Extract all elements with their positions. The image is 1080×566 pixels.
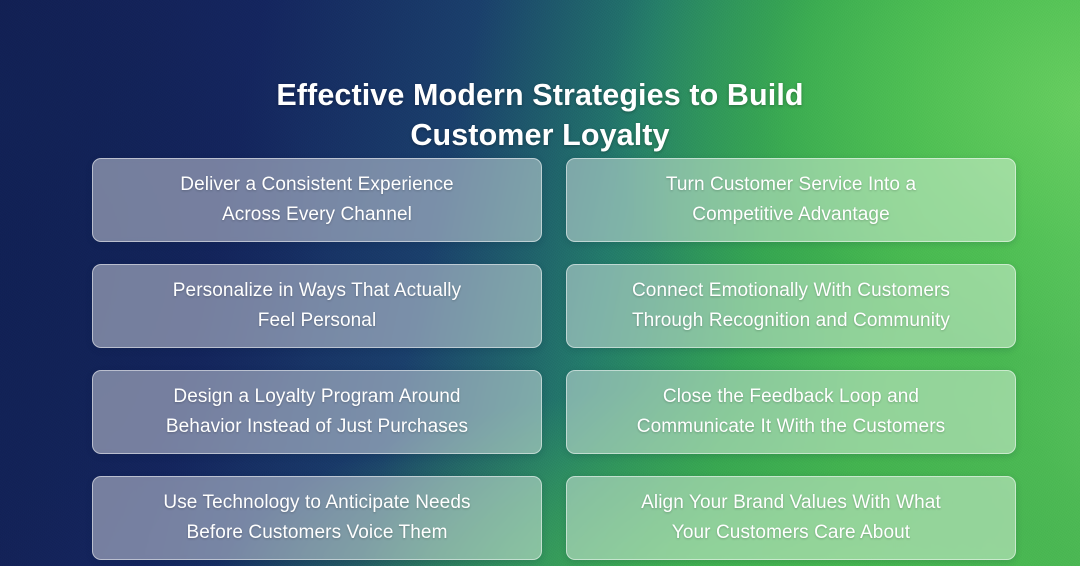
infographic-slide: Effective Modern Strategies to Build Cus…	[0, 0, 1080, 566]
strategy-card-brand-values[interactable]: Align Your Brand Values With What Your C…	[566, 476, 1016, 560]
strategy-card-label: Use Technology to Anticipate Needs Befor…	[163, 488, 470, 548]
slide-content: Effective Modern Strategies to Build Cus…	[0, 0, 1080, 566]
strategy-card-grid: Deliver a Consistent Experience Across E…	[92, 158, 1016, 560]
strategy-card-technology-anticipation[interactable]: Use Technology to Anticipate Needs Befor…	[92, 476, 542, 560]
strategy-card-personalization[interactable]: Personalize in Ways That Actually Feel P…	[92, 264, 542, 348]
strategy-card-customer-service[interactable]: Turn Customer Service Into a Competitive…	[566, 158, 1016, 242]
strategy-card-label: Personalize in Ways That Actually Feel P…	[173, 276, 461, 336]
strategy-card-loyalty-program[interactable]: Design a Loyalty Program Around Behavior…	[92, 370, 542, 454]
page-title: Effective Modern Strategies to Build Cus…	[0, 75, 1080, 155]
strategy-card-label: Deliver a Consistent Experience Across E…	[180, 170, 453, 230]
strategy-card-label: Turn Customer Service Into a Competitive…	[666, 170, 916, 230]
strategy-card-consistent-experience[interactable]: Deliver a Consistent Experience Across E…	[92, 158, 542, 242]
strategy-card-label: Design a Loyalty Program Around Behavior…	[166, 382, 468, 442]
strategy-card-label: Connect Emotionally With Customers Throu…	[632, 276, 950, 336]
strategy-card-feedback-loop[interactable]: Close the Feedback Loop and Communicate …	[566, 370, 1016, 454]
strategy-card-emotional-connection[interactable]: Connect Emotionally With Customers Throu…	[566, 264, 1016, 348]
strategy-card-label: Close the Feedback Loop and Communicate …	[637, 382, 945, 442]
strategy-card-label: Align Your Brand Values With What Your C…	[641, 488, 941, 548]
